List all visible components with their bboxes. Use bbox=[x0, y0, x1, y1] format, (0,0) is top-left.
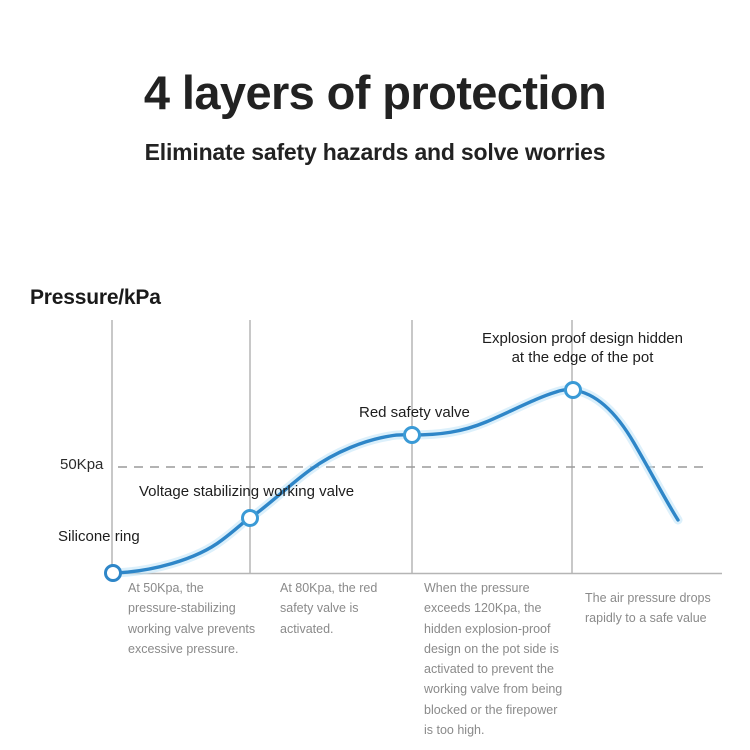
caption-stage-3: When the pressure exceeds 120Kpa, the hi… bbox=[424, 578, 566, 740]
caption-stage-1: At 50Kpa, the pressure-stabilizing worki… bbox=[128, 578, 258, 659]
marker-silicone-ring[interactable] bbox=[106, 566, 121, 581]
caption-stage-2: At 80Kpa, the red safety valve is activa… bbox=[280, 578, 402, 639]
marker-red-safety-valve[interactable] bbox=[405, 428, 420, 443]
caption-stage-4: The air pressure drops rapidly to a safe… bbox=[585, 588, 740, 629]
annotation-explosion-proof-line1: Explosion proof design hidden bbox=[482, 330, 683, 349]
annotation-explosion-proof: Explosion proof design hidden at the edg… bbox=[482, 330, 683, 368]
annotation-red-safety-valve: Red safety valve bbox=[359, 404, 470, 423]
pressure-chart: Pressure/kPa 50Kpa Silicone ring Voltage… bbox=[0, 0, 750, 750]
annotation-voltage-valve: Voltage stabilizing working valve bbox=[139, 483, 354, 502]
marker-explosion-proof[interactable] bbox=[566, 383, 581, 398]
annotation-explosion-proof-line2: at the edge of the pot bbox=[482, 349, 683, 368]
marker-voltage-valve[interactable] bbox=[243, 511, 258, 526]
annotation-silicone-ring: Silicone ring bbox=[58, 528, 140, 547]
